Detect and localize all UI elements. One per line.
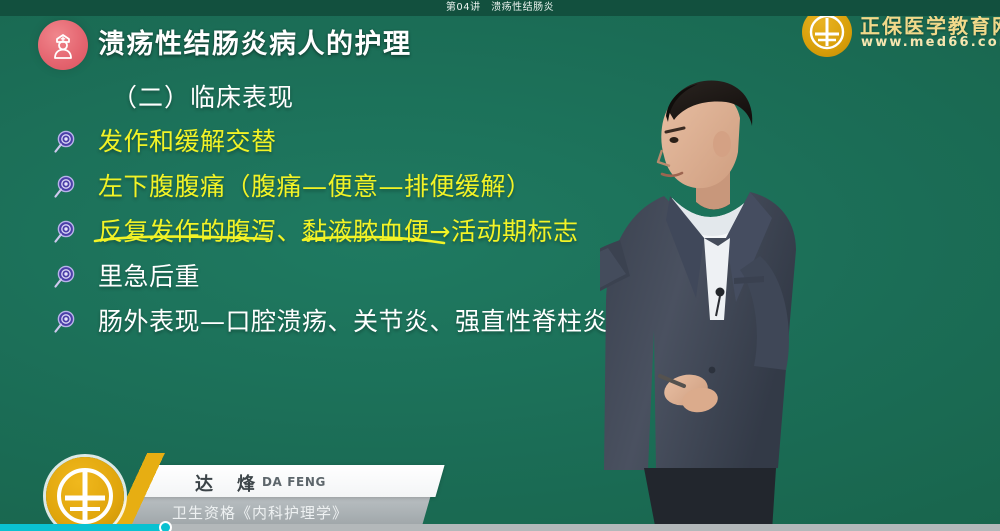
- nurse-icon: [38, 20, 88, 70]
- presenter-subject: 卫生资格《内科护理学》: [172, 502, 348, 523]
- progress-handle[interactable]: [159, 521, 172, 531]
- annotation-underline-2: [300, 232, 460, 250]
- annotation-underline-1: [92, 232, 292, 248]
- page-title: 溃疡性结肠炎病人的护理: [98, 22, 412, 61]
- pin-bullet-icon: [52, 265, 78, 291]
- presenter-name-pinyin: DA FENG: [262, 475, 326, 489]
- slide-header: 溃疡性结肠炎病人的护理: [0, 16, 660, 64]
- slide-subheading: （二）临床表现: [112, 78, 294, 114]
- pin-bullet-icon: [52, 310, 78, 336]
- video-progress-bar[interactable]: [0, 524, 1000, 531]
- progress-fill: [0, 524, 165, 531]
- pin-bullet-icon: [52, 175, 78, 201]
- video-stage: 第04讲 溃疡性结肠炎 溃疡性结肠炎病人的护理 正保医学教育网 www.med6…: [0, 0, 1000, 531]
- presenter-name-bar: 达 烽 DA FENG 卫生资格《内科护理学》: [0, 451, 560, 531]
- pin-bullet-icon: [52, 220, 78, 246]
- pin-bullet-icon: [52, 130, 78, 156]
- list-item-label: 左下腹腹痛（腹痛—便意—排便缓解）: [98, 167, 532, 203]
- list-item-label: 发作和缓解交替: [98, 122, 277, 158]
- presenter-figure: [600, 70, 930, 531]
- cross-emblem-icon: [46, 457, 124, 531]
- lecture-title-label: 第04讲 溃疡性结肠炎: [0, 0, 1000, 16]
- top-bar: 第04讲 溃疡性结肠炎: [0, 0, 1000, 16]
- list-item-label: 里急后重: [98, 257, 200, 293]
- brand-url: www.med66.com: [861, 35, 1000, 50]
- list-item-label: 肠外表现—口腔溃疡、关节炎、强直性脊柱炎: [98, 302, 608, 338]
- presenter-name: 达 烽: [195, 470, 258, 496]
